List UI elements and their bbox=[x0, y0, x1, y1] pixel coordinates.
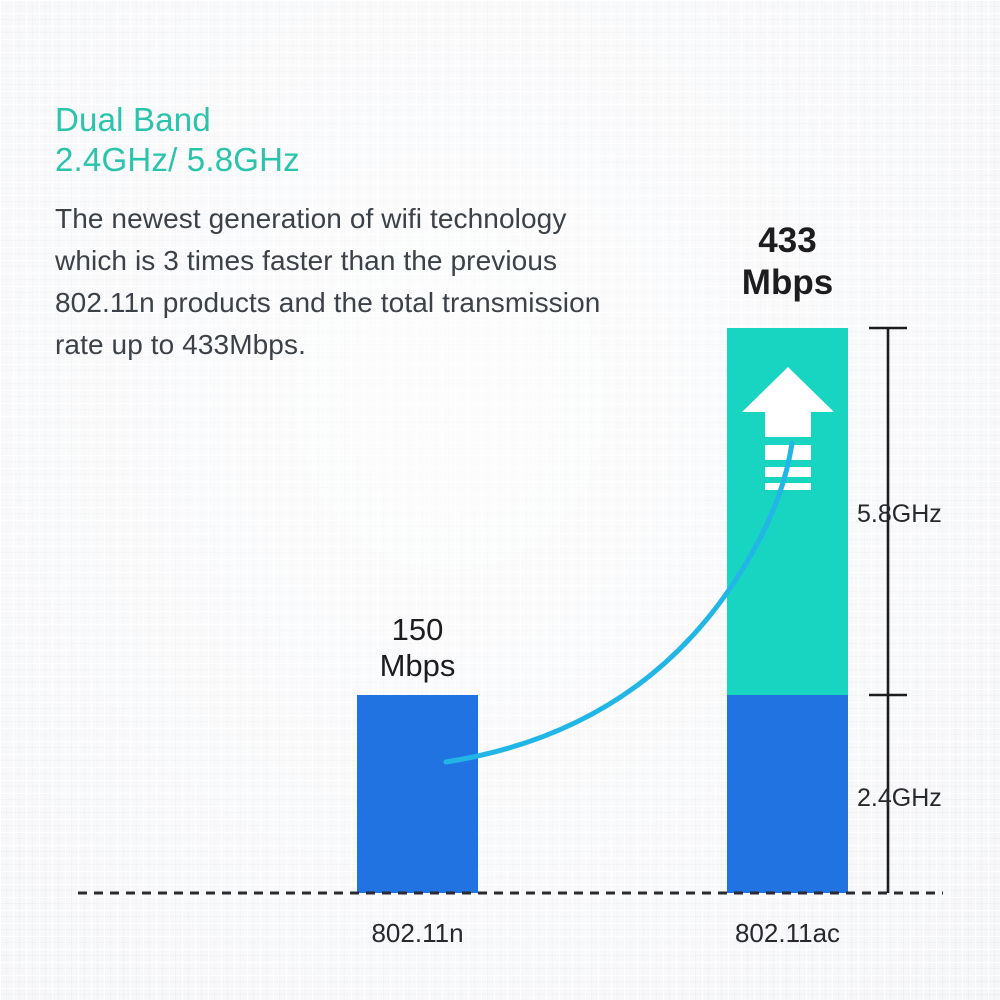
value-label-802-11ac-unit: Mbps bbox=[707, 262, 868, 304]
axis-label-802-11ac: 802.11ac bbox=[687, 918, 888, 948]
axis-label-802-11n: 802.11n bbox=[317, 918, 518, 948]
infographic-canvas: Dual Band 2.4GHz/ 5.8GHz The newest gene… bbox=[0, 0, 1000, 1000]
value-label-802-11n: 150 Mbps bbox=[337, 612, 498, 684]
band-label-5-8ghz: 5.8GHz bbox=[857, 500, 942, 528]
value-label-802-11n-unit: Mbps bbox=[337, 648, 498, 684]
value-label-802-11ac-number: 433 bbox=[707, 220, 868, 262]
growth-curve bbox=[446, 443, 792, 762]
value-label-802-11n-number: 150 bbox=[337, 612, 498, 648]
band-label-2-4ghz: 2.4GHz bbox=[857, 784, 942, 812]
chart-vector-overlay bbox=[0, 0, 1000, 1000]
bar-chart: 150 Mbps 433 Mbps 802.11n 802.11ac 5.8GH… bbox=[0, 0, 1000, 1000]
chart-guides bbox=[78, 327, 943, 893]
value-label-802-11ac: 433 Mbps bbox=[707, 220, 868, 304]
